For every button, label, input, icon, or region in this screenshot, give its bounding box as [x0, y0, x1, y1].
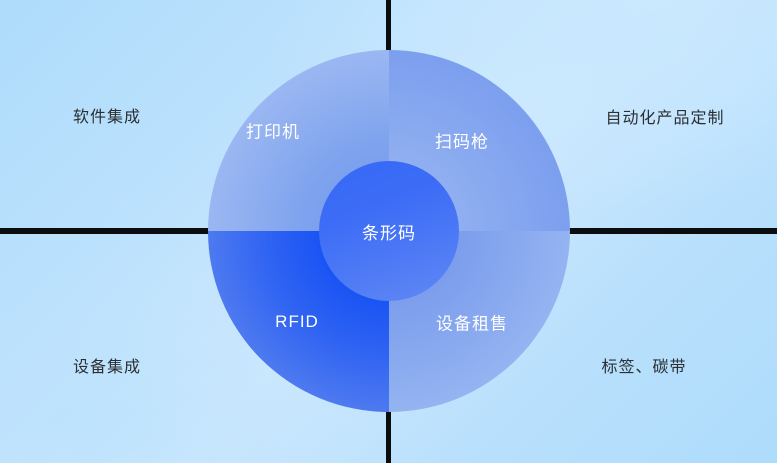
outer-label-device-integration: 设备集成 — [73, 353, 141, 377]
segment-label-printer: 打印机 — [246, 118, 300, 143]
center-circle[interactable]: 条形码 — [319, 161, 459, 301]
segment-label-rfid: RFID — [275, 312, 319, 332]
segment-label-scanner: 扫码枪 — [435, 128, 489, 153]
segment-label-rental: 设备租售 — [436, 310, 508, 335]
outer-label-labels-ribbons: 标签、碳带 — [601, 353, 686, 377]
center-circle-label: 条形码 — [362, 219, 416, 244]
outer-label-software-integration: 软件集成 — [73, 103, 141, 127]
diagram-canvas: 条形码 打印机 扫码枪 RFID 设备租售 软件集成 自动化产品定制 设备集成 … — [0, 0, 777, 463]
outer-label-automation-customizing: 自动化产品定制 — [605, 104, 724, 128]
